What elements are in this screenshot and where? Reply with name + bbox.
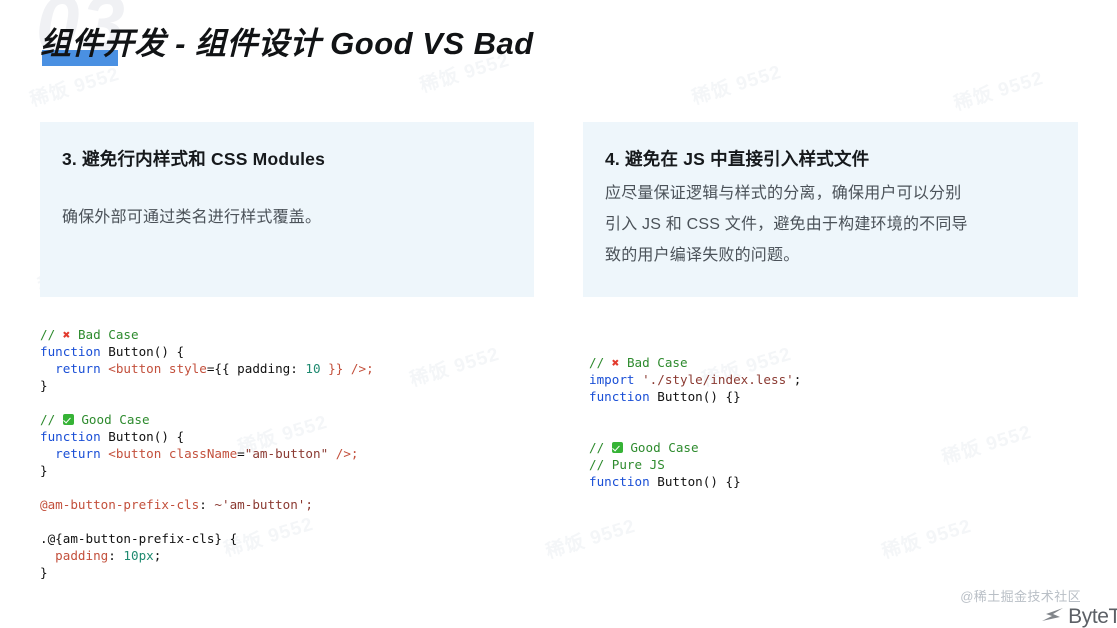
code-less-selector: @{am-button-prefix-cls} — [48, 531, 222, 546]
footer-watermark: @稀土掘金技术社区 — [960, 586, 1081, 605]
right-card-body-line-2: 引入 JS 和 CSS 文件，避免由于构建环境的不同导 — [605, 209, 1056, 240]
code-jsx-button-tag: <button — [108, 361, 169, 376]
code-space — [635, 372, 643, 387]
code-fn-body: Button() {} — [650, 389, 741, 404]
code-less-variable-value: ~'am-button'; — [214, 497, 313, 512]
watermark-tile: 稀饭 9552 — [938, 417, 1034, 470]
code-style-value-open: ={{ padding: — [207, 361, 306, 376]
left-card: 3. 避免行内样式和 CSS Modules 确保外部可通过类名进行样式覆盖。 — [40, 122, 534, 297]
code-fn-name: Button() { — [101, 429, 184, 444]
left-code-block: // ✖ Bad Case function Button() { return… — [40, 326, 374, 581]
code-bad-case-label — [70, 327, 78, 342]
check-mark-icon — [63, 414, 74, 425]
page-title: 组件开发 - 组件设计 Good VS Bad — [40, 22, 534, 70]
page-title-text: 组件开发 - 组件设计 Good VS Bad — [40, 22, 534, 66]
code-space — [619, 355, 627, 370]
right-card-body-line-3: 致的用户编译失败的问题。 — [605, 240, 1056, 271]
code-less-block-open: { — [222, 531, 237, 546]
watermark-tile: 稀饭 9552 — [688, 57, 784, 110]
code-semicolon: ; — [154, 548, 162, 563]
code-keyword-import: import — [589, 372, 635, 387]
brand-logo-text: ByteT — [1068, 606, 1117, 627]
check-mark-icon — [612, 442, 623, 453]
code-keyword-function: function — [589, 389, 650, 404]
code-attr-style: style — [169, 361, 207, 376]
code-classname-value: "am-button" — [245, 446, 328, 461]
code-comment-slashes: // — [40, 327, 63, 342]
pure-js-comment: // Pure JS — [589, 457, 665, 472]
code-keyword-function: function — [40, 344, 101, 359]
code-colon: : — [108, 548, 123, 563]
code-brace-close: } — [40, 463, 48, 478]
code-selfclose: />; — [328, 446, 358, 461]
watermark-tile: 稀饭 9552 — [950, 63, 1046, 116]
code-style-close: }} />; — [321, 361, 374, 376]
bad-case-label-left: Bad Case — [78, 327, 139, 342]
watermark-tile: 稀饭 9552 — [406, 339, 502, 392]
right-card: 4. 避免在 JS 中直接引入样式文件 应尽量保证逻辑与样式的分离，确保用户可以… — [583, 122, 1078, 297]
code-less-property: padding — [40, 548, 108, 563]
code-semicolon: ; — [794, 372, 802, 387]
code-less-selector-dot: . — [40, 531, 48, 546]
bytedance-mark-icon — [1039, 605, 1065, 627]
code-keyword-function: function — [40, 429, 101, 444]
code-comment-slashes: // — [40, 412, 63, 427]
code-import-path: './style/index.less' — [642, 372, 794, 387]
code-keyword-return: return — [40, 446, 108, 461]
bad-case-label-right: Bad Case — [627, 355, 688, 370]
watermark-tile: 稀饭 9552 — [542, 511, 638, 564]
code-keyword-return: return — [40, 361, 108, 376]
watermark-tile: 稀饭 9552 — [878, 511, 974, 564]
left-card-body: 确保外部可通过类名进行样式覆盖。 — [62, 202, 512, 233]
right-column: 4. 避免在 JS 中直接引入样式文件 应尽量保证逻辑与样式的分离，确保用户可以… — [583, 122, 1078, 297]
good-case-label-left: Good Case — [81, 412, 149, 427]
code-comment-slashes: // — [589, 355, 612, 370]
code-jsx-button-tag: <button — [108, 446, 169, 461]
code-brace-close: } — [40, 565, 48, 580]
code-fn-body: Button() {} — [650, 474, 741, 489]
code-less-variable: @am-button-prefix-cls — [40, 497, 199, 512]
code-colon: : — [199, 497, 214, 512]
code-eq: = — [237, 446, 245, 461]
code-fn-name: Button() { — [101, 344, 184, 359]
brand-logo: ByteT — [1039, 605, 1117, 627]
right-card-title: 4. 避免在 JS 中直接引入样式文件 — [605, 146, 1056, 172]
right-card-body-line-1: 应尽量保证逻辑与样式的分离，确保用户可以分别 — [605, 178, 1056, 209]
code-padding-number: 10 — [305, 361, 320, 376]
code-less-property-value: 10px — [123, 548, 153, 563]
code-comment-slashes: // — [589, 440, 612, 455]
right-code-block: // ✖ Bad Case import './style/index.less… — [589, 354, 801, 490]
code-brace-close: } — [40, 378, 48, 393]
code-attr-classname: className — [169, 446, 237, 461]
left-card-title: 3. 避免行内样式和 CSS Modules — [62, 146, 512, 172]
left-column: 3. 避免行内样式和 CSS Modules 确保外部可通过类名进行样式覆盖。 — [40, 122, 534, 297]
code-keyword-function: function — [589, 474, 650, 489]
good-case-label-right: Good Case — [630, 440, 698, 455]
